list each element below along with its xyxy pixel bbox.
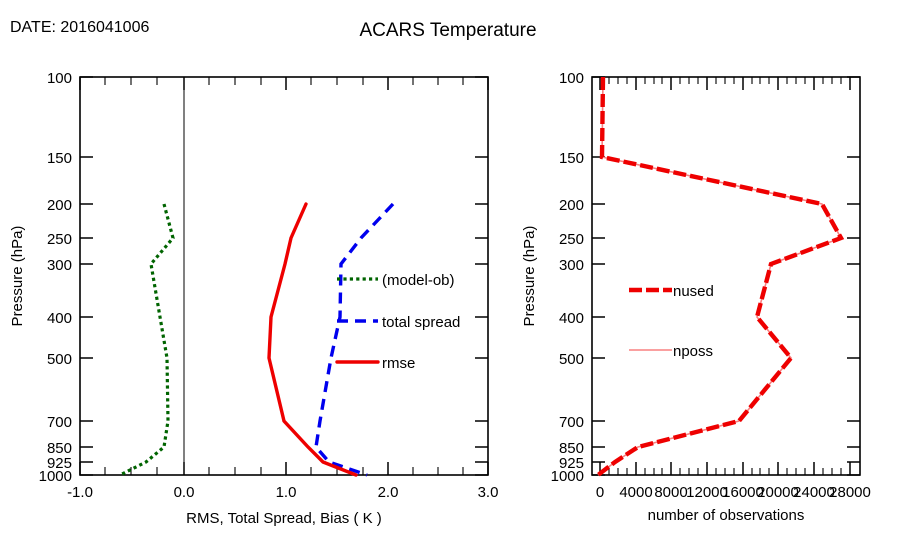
right-ytick-300: 300: [559, 257, 584, 274]
left-ytick-200: 200: [47, 197, 72, 214]
left-ytick-300: 300: [47, 257, 72, 274]
right-xtick-4000: 4000: [619, 484, 652, 501]
legend-label-nposs: nposs: [673, 343, 713, 360]
right-x-tick-labels: 0 4000 8000 12000 16000 20000 24000 2800…: [596, 484, 871, 501]
left-legend: (model-ob) total spread rmse: [337, 272, 460, 372]
series-total-spread: [316, 204, 393, 475]
left-ytick-400: 400: [47, 310, 72, 327]
legend-label-nused: nused: [673, 283, 714, 300]
page-title: ACARS Temperature: [359, 20, 536, 41]
right-legend: nused nposs: [629, 283, 714, 360]
right-ytick-250: 250: [559, 231, 584, 248]
left-x-axis-title: RMS, Total Spread, Bias ( K ): [186, 510, 382, 527]
series-nused: [598, 77, 841, 475]
legend-label-model-ob: (model-ob): [382, 272, 455, 289]
right-ytick-400: 400: [559, 310, 584, 327]
right-xtick-0: 0: [596, 484, 604, 501]
right-x-axis-title: number of observations: [648, 507, 805, 524]
right-ytick-500: 500: [559, 351, 584, 368]
left-xtick-neg1: -1.0: [67, 484, 93, 501]
right-y-ticks: [592, 77, 860, 475]
left-ytick-250: 250: [47, 231, 72, 248]
left-y-tick-labels: 100 150 200 250 300 400 500 700 850 925 …: [39, 70, 72, 485]
left-y-axis-title: Pressure (hPa): [9, 226, 26, 327]
left-xtick-3: 3.0: [478, 484, 499, 501]
right-xtick-8000: 8000: [654, 484, 687, 501]
right-ytick-150: 150: [559, 150, 584, 167]
right-x-ticks: [600, 77, 850, 475]
right-y-tick-labels: 100 150 200 250 300 400 500 700 850 925 …: [551, 70, 584, 485]
right-panel: 100 150 200 250 300 400 500 700 850 925 …: [521, 70, 871, 524]
date-label: DATE: 2016041006: [10, 19, 149, 36]
left-ytick-500: 500: [47, 351, 72, 368]
left-xtick-2: 2.0: [378, 484, 399, 501]
left-xtick-1: 1.0: [276, 484, 297, 501]
right-y-axis-title: Pressure (hPa): [521, 226, 538, 327]
acars-temperature-figure: DATE: 2016041006 ACARS Temperature: [0, 0, 900, 560]
legend-label-total-spread: total spread: [382, 314, 460, 331]
left-ytick-150: 150: [47, 150, 72, 167]
series-rmse: [269, 204, 356, 475]
right-ytick-200: 200: [559, 197, 584, 214]
right-panel-frame: [592, 77, 860, 475]
left-xtick-0: 0.0: [174, 484, 195, 501]
right-ytick-100: 100: [559, 70, 584, 87]
series-nposs: [598, 77, 841, 475]
series-model-ob: [120, 204, 173, 475]
left-ytick-700: 700: [47, 414, 72, 431]
right-ytick-1000: 1000: [551, 468, 584, 485]
right-ytick-700: 700: [559, 414, 584, 431]
chart-page: DATE: 2016041006 ACARS Temperature: [0, 0, 900, 560]
left-ytick-100: 100: [47, 70, 72, 87]
left-ytick-1000: 1000: [39, 468, 72, 485]
right-xtick-28000: 28000: [829, 484, 871, 501]
left-panel: 100 150 200 250 300 400 500 700 850 925 …: [9, 70, 498, 527]
left-x-tick-labels: -1.0 0.0 1.0 2.0 3.0: [67, 484, 498, 501]
legend-label-rmse: rmse: [382, 355, 415, 372]
